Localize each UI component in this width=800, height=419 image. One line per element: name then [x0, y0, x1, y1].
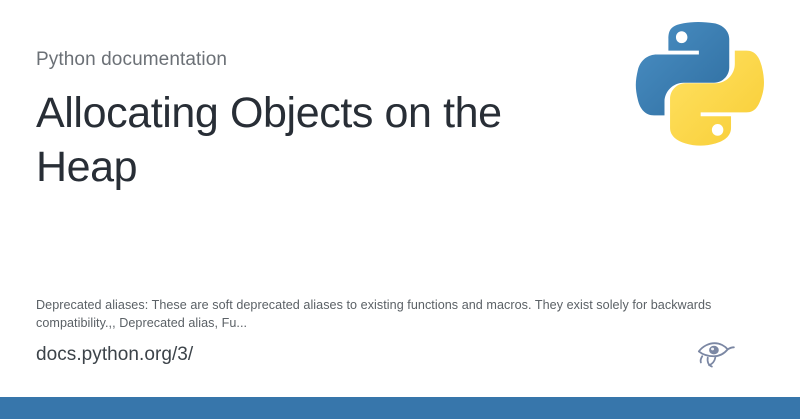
python-logo-icon	[634, 11, 764, 153]
card-description: Deprecated aliases: These are soft depre…	[36, 296, 726, 332]
site-url[interactable]: docs.python.org/3/	[36, 342, 193, 368]
card-header: Python documentation Allocating Objects …	[36, 48, 596, 194]
link-preview-card: Python documentation Allocating Objects …	[0, 0, 800, 419]
accent-bar	[0, 397, 800, 419]
page-title: Allocating Objects on the Heap	[36, 86, 556, 194]
eye-of-horus-icon	[694, 337, 738, 370]
site-name: Python documentation	[36, 48, 596, 72]
